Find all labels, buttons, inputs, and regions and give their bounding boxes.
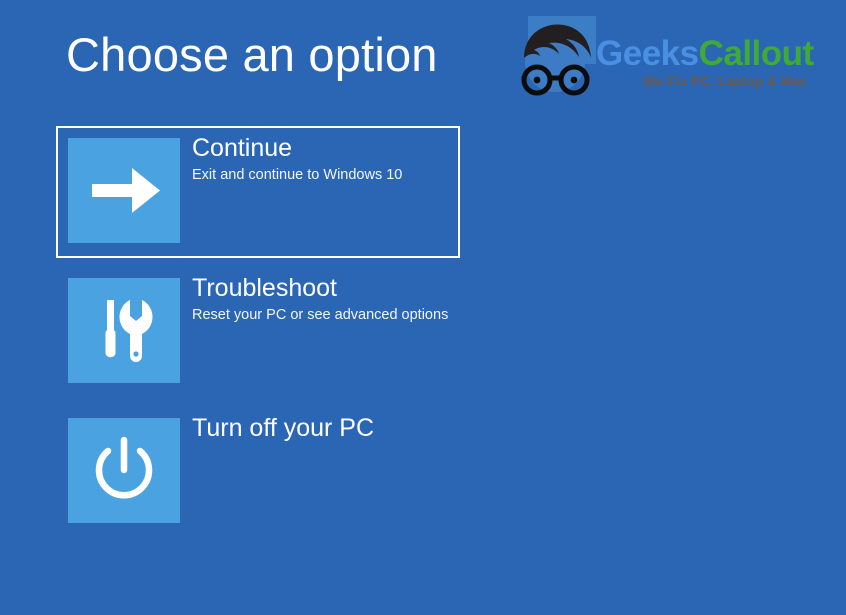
arrow-right-icon: [68, 138, 180, 243]
option-continue-title: Continue: [192, 132, 450, 164]
option-continue-text: Continue Exit and continue to Windows 10: [192, 132, 450, 185]
option-troubleshoot[interactable]: Troubleshoot Reset your PC or see advanc…: [56, 266, 460, 398]
option-continue[interactable]: Continue Exit and continue to Windows 10: [56, 126, 460, 258]
option-shutdown-text: Turn off your PC: [192, 412, 450, 444]
option-troubleshoot-title: Troubleshoot: [192, 272, 450, 304]
option-shutdown[interactable]: Turn off your PC: [56, 406, 460, 538]
option-troubleshoot-description: Reset your PC or see advanced options: [192, 305, 450, 325]
power-icon: [68, 418, 180, 523]
screwdriver-wrench-icon: [68, 278, 180, 383]
option-troubleshoot-text: Troubleshoot Reset your PC or see advanc…: [192, 272, 450, 325]
option-continue-description: Exit and continue to Windows 10: [192, 165, 450, 185]
option-shutdown-title: Turn off your PC: [192, 412, 450, 444]
options-list: Continue Exit and continue to Windows 10…: [0, 0, 846, 615]
